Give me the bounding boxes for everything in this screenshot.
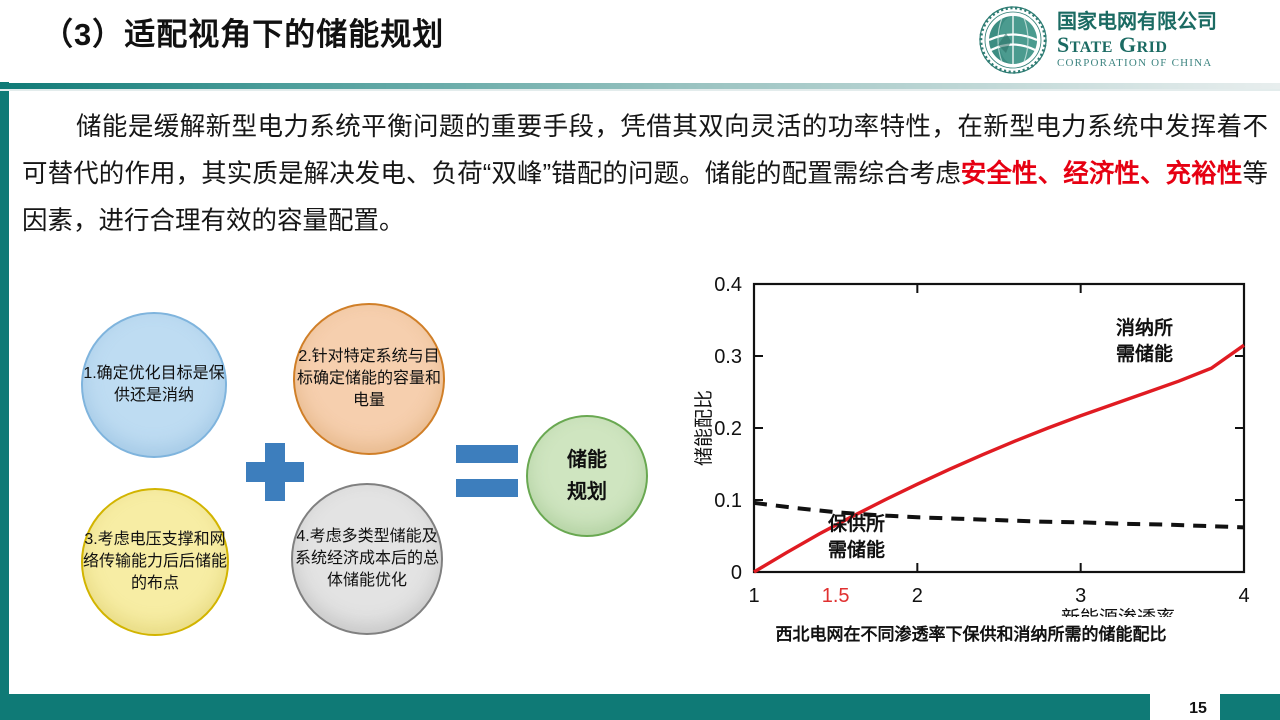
body-paragraph: 储能是缓解新型电力系统平衡问题的重要手段，凭借其双向灵活的功率特性，在新型电力系…	[22, 104, 1268, 245]
plus-icon	[246, 443, 304, 501]
equals-icon-bar-bottom	[456, 479, 518, 497]
page-number: 15	[1178, 700, 1218, 718]
diagram-circle-step-3[interactable]: 3.考虑电压支撑和网络传输能力后后储能的布点	[81, 488, 229, 636]
logo-text-block: 国家电网有限公司 STATE GRID CORPORATION OF CHINA	[1057, 12, 1217, 69]
annotation-consumption-line-2: 需储能	[1116, 342, 1173, 365]
y-tick-label-3: 0.3	[714, 346, 742, 368]
y-tick-label-2: 0.2	[714, 418, 742, 440]
x-tick-label-1: 1.5	[822, 585, 850, 607]
plus-icon-bar-vertical	[265, 443, 285, 501]
y-tick-label-4: 0.4	[714, 274, 742, 296]
logo-en-rid: RID	[1137, 39, 1168, 56]
series-line-0	[754, 345, 1244, 572]
diagram-circle-step-3-label: 3.考虑电压支撑和网络传输能力后后储能的布点	[83, 529, 227, 595]
y-tick-label-0: 0	[731, 562, 742, 584]
logo-en-s: S	[1057, 32, 1070, 57]
y-axis-label: 储能配比	[693, 390, 715, 466]
storage-ratio-chart: 00.10.20.30.411.5234储能配比新能源渗透率消纳所需储能保供所需…	[676, 262, 1266, 662]
equals-icon	[456, 445, 518, 499]
diagram-result-line-1: 储能	[567, 449, 607, 471]
footer-bar-right	[1220, 694, 1280, 720]
diagram-result-label: 储能 规划	[567, 444, 607, 508]
annotation-supply-line-1: 保供所	[827, 512, 885, 535]
diagram-circle-result[interactable]: 储能 规划	[526, 415, 648, 537]
highlight-safety: 安全性	[961, 160, 1038, 188]
chart-canvas: 00.10.20.30.411.5234储能配比新能源渗透率消纳所需储能保供所需…	[676, 262, 1266, 617]
state-grid-logo: 国家电网有限公司 STATE GRID CORPORATION OF CHINA	[978, 4, 1274, 76]
state-grid-globe-icon	[978, 5, 1048, 75]
storage-planning-diagram: 1.确定优化目标是保供还是消纳 2.针对特定系统与目标确定储能的容量和电量 3.…	[60, 285, 680, 660]
annotation-consumption-line-1: 消纳所	[1116, 316, 1173, 339]
x-axis-label: 新能源渗透率	[1061, 607, 1175, 617]
x-tick-label-3: 3	[1075, 585, 1086, 607]
annotation-supply-line-2: 需储能	[828, 538, 885, 561]
logo-company-name-cn: 国家电网有限公司	[1057, 12, 1217, 32]
slide-header: （3）适配视角下的储能规划 国家电网有限公司 STATE GRID	[0, 0, 1280, 82]
chart-caption: 西北电网在不同渗透率下保供和消纳所需的储能配比	[676, 620, 1266, 645]
header-divider-thin	[0, 89, 1280, 91]
diagram-result-line-2: 规划	[567, 481, 607, 503]
logo-company-name-en: STATE GRID	[1057, 34, 1217, 56]
highlight-adequacy: 充裕性	[1166, 160, 1243, 188]
x-tick-label-2: 2	[912, 585, 923, 607]
diagram-circle-step-2[interactable]: 2.针对特定系统与目标确定储能的容量和电量	[293, 303, 445, 455]
diagram-circle-step-4[interactable]: 4.考虑多类型储能及系统经济成本后的总体储能优化	[291, 483, 443, 635]
x-tick-label-4: 4	[1238, 585, 1249, 607]
separator-1: 、	[1038, 160, 1064, 188]
highlight-economy: 经济性	[1063, 160, 1140, 188]
x-tick-label-0: 1	[748, 585, 759, 607]
footer-bar-left	[0, 694, 1150, 720]
logo-corporation-line: CORPORATION OF CHINA	[1057, 58, 1217, 69]
left-accent-rail	[0, 0, 9, 720]
diagram-circle-step-1[interactable]: 1.确定优化目标是保供还是消纳	[81, 312, 227, 458]
diagram-circle-step-1-label: 1.确定优化目标是保供还是消纳	[83, 363, 225, 407]
diagram-circle-step-4-label: 4.考虑多类型储能及系统经济成本后的总体储能优化	[293, 526, 441, 592]
y-tick-label-1: 0.1	[714, 490, 742, 512]
separator-2: 、	[1140, 160, 1166, 188]
logo-en-tate: TATE	[1070, 39, 1113, 56]
page-title: （3）适配视角下的储能规划	[42, 9, 444, 54]
equals-icon-bar-top	[456, 445, 518, 463]
logo-en-g: G	[1119, 32, 1137, 57]
diagram-circle-step-2-label: 2.针对特定系统与目标确定储能的容量和电量	[295, 346, 443, 412]
